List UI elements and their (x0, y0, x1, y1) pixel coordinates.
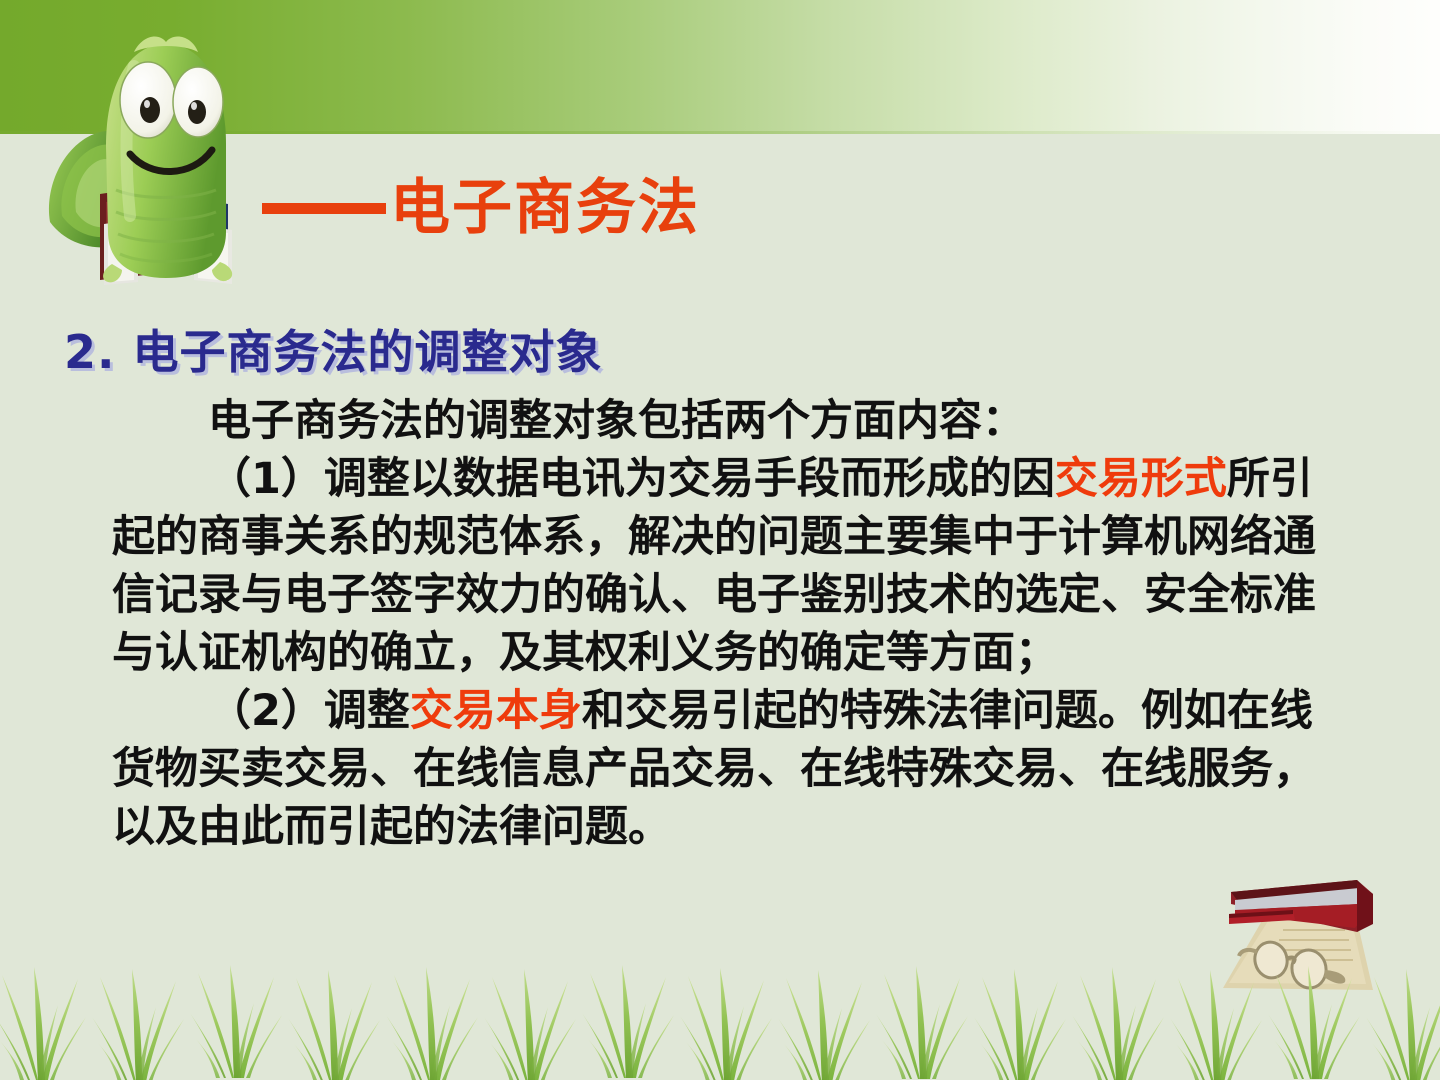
slide-canvas: 电子商务法 2. 电子商务法的调整对象 电子商务法的调整对象包括两个方面内容： … (0, 0, 1440, 1080)
paragraph-2-highlight: 交易本身 (410, 686, 582, 736)
title-dash-icon (262, 203, 386, 214)
paragraph-1-lead: （1）调整以数据电讯为交易手段而形成的因 (208, 454, 1055, 504)
slide-title: 电子商务法 (262, 178, 700, 238)
title-text: 电子商务法 (390, 178, 700, 238)
paragraph-1-highlight: 交易形式 (1055, 454, 1227, 504)
body-intro: 电子商务法的调整对象包括两个方面内容： (112, 392, 1348, 450)
paragraph-2-lead: （2）调整 (208, 686, 410, 736)
body-paragraph-1: （1）调整以数据电讯为交易手段而形成的因交易形式所引起的商事关系的规范体系，解决… (112, 450, 1348, 682)
section-heading: 2. 电子商务法的调整对象 (64, 316, 603, 382)
body-copy: 电子商务法的调整对象包括两个方面内容： （1）调整以数据电讯为交易手段而形成的因… (112, 392, 1348, 856)
body-paragraph-2: （2）调整交易本身和交易引起的特殊法律问题。例如在线货物买卖交易、在线信息产品交… (112, 682, 1348, 856)
grass-border-icon (0, 945, 1440, 1080)
bookworm-mascot-icon (42, 26, 254, 288)
